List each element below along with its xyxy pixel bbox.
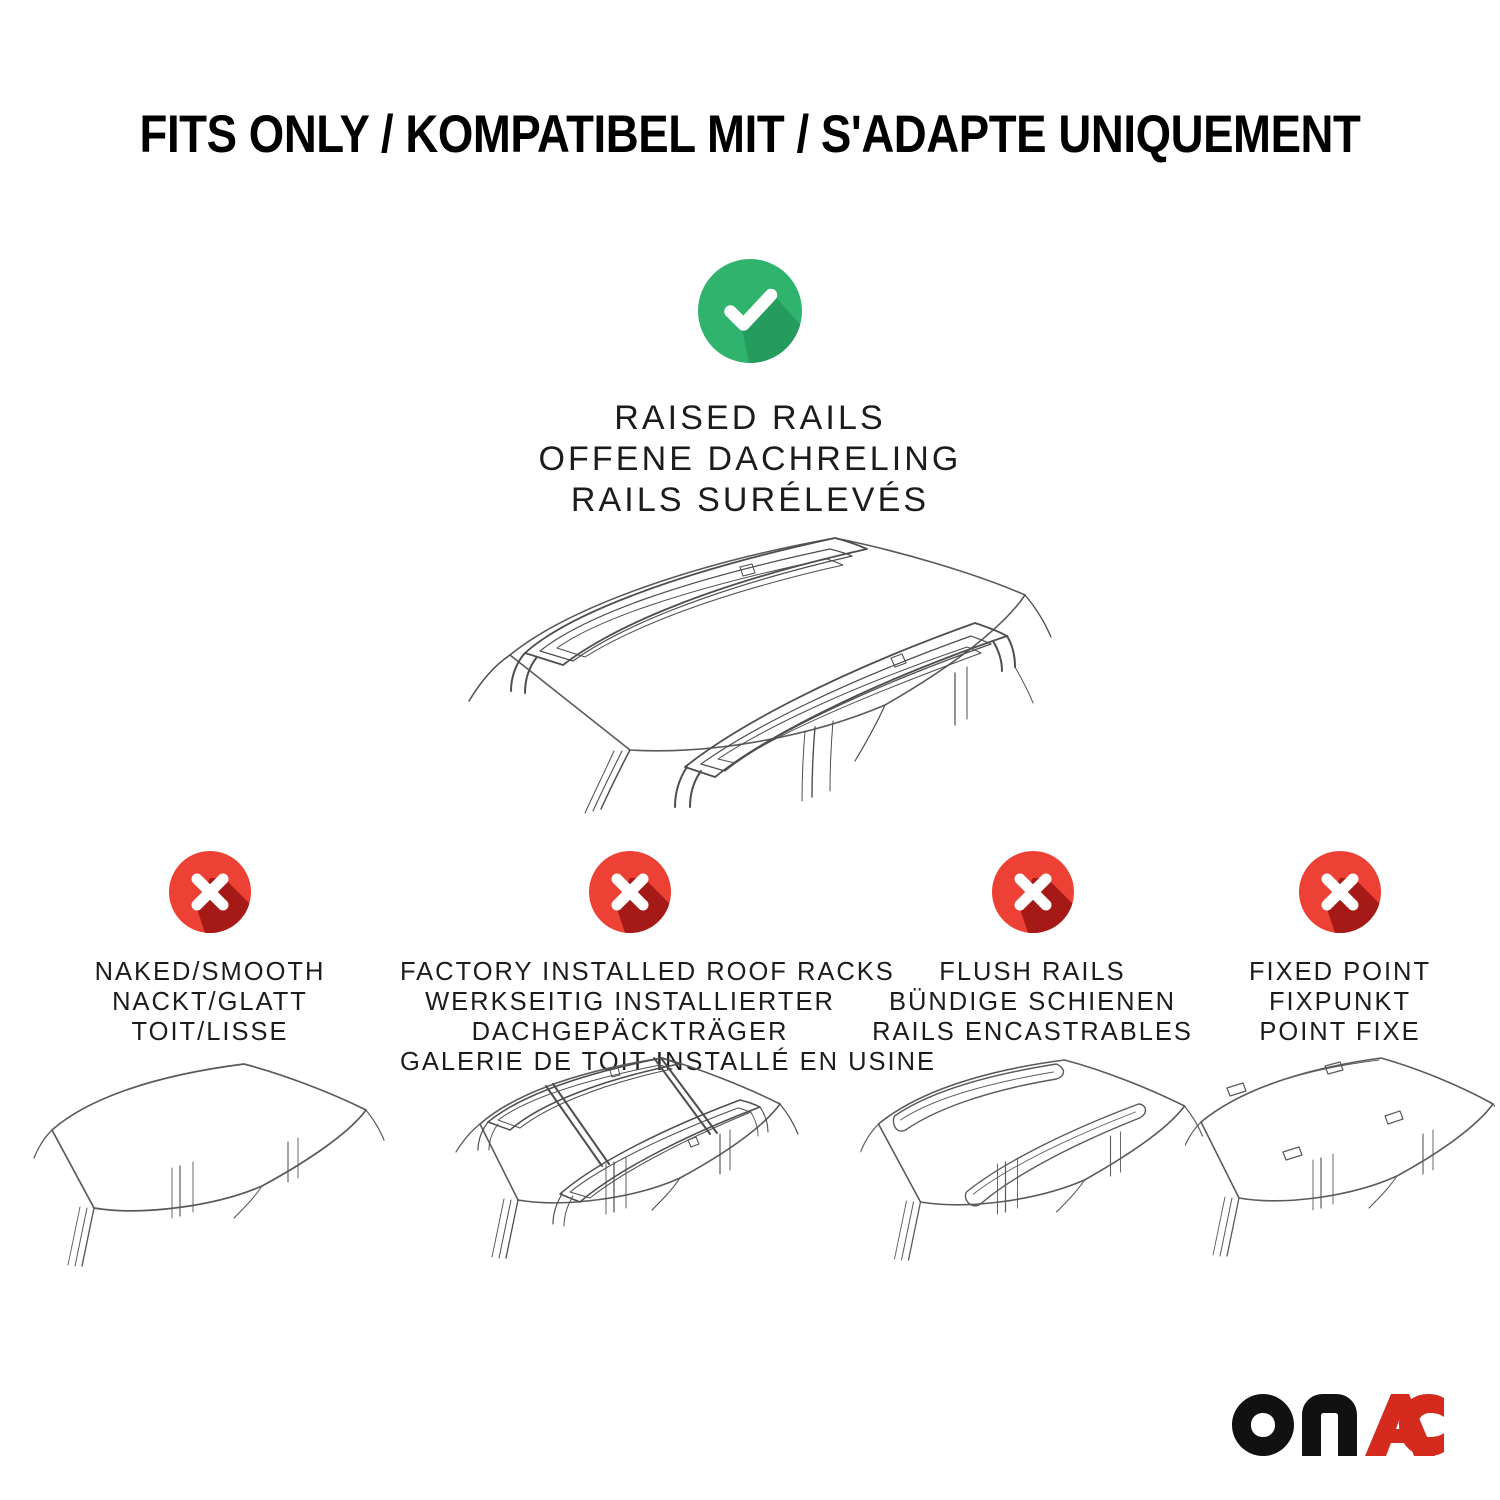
label-fr: RAILS ENCASTRABLES <box>860 1017 1205 1047</box>
incompatible-labels: FLUSH RAILS BÜNDIGE SCHIENEN RAILS ENCAS… <box>860 957 1205 1047</box>
label-en: NAKED/SMOOTH <box>10 957 410 987</box>
roof-illustration-flush-rails <box>860 1044 1205 1274</box>
incompatible-item-factory-roof-racks: FACTORY INSTALLED ROOF RACKS WERKSEITIG … <box>400 848 860 1077</box>
incompatible-labels: NAKED/SMOOTH NACKT/GLATT TOIT/LISSE <box>10 957 410 1047</box>
compatible-label-de: OFFENE DACHRELING <box>0 439 1500 480</box>
roof-illustration-fixed-points <box>1185 1044 1495 1269</box>
label-de: FIXPUNKT <box>1195 987 1485 1017</box>
cross-circle-icon <box>1195 848 1485 941</box>
label-de: NACKT/GLATT <box>10 987 410 1017</box>
label-fr: TOIT/LISSE <box>10 1017 410 1047</box>
incompatible-item-fixed-point: FIXED POINT FIXPUNKT POINT FIXE <box>1195 848 1485 1047</box>
compatible-label-en: RAISED RAILS <box>0 398 1500 439</box>
cross-circle-icon <box>860 848 1205 941</box>
cross-circle-icon <box>10 848 410 941</box>
label-en: FACTORY INSTALLED ROOF RACKS <box>400 957 860 987</box>
compatible-section: RAISED RAILS OFFENE DACHRELING RAILS SUR… <box>0 255 1500 521</box>
roof-illustration-raised-rails <box>415 505 1095 835</box>
compatible-labels: RAISED RAILS OFFENE DACHRELING RAILS SUR… <box>0 398 1500 521</box>
cross-circle-icon <box>400 848 860 941</box>
page-title: FITS ONLY / KOMPATIBEL MIT / S'ADAPTE UN… <box>105 104 1395 165</box>
omac-logo <box>1232 1394 1452 1456</box>
label-en: FIXED POINT <box>1195 957 1485 987</box>
label-de: BÜNDIGE SCHIENEN <box>860 987 1205 1017</box>
incompatible-sections: NAKED/SMOOTH NACKT/GLATT TOIT/LISSE <box>0 848 1500 1448</box>
check-circle-icon <box>0 255 1500 372</box>
incompatible-item-naked-smooth: NAKED/SMOOTH NACKT/GLATT TOIT/LISSE <box>10 848 410 1047</box>
label-fr: POINT FIXE <box>1195 1017 1485 1047</box>
label-de-1: WERKSEITIG INSTALLIERTER <box>400 987 860 1017</box>
incompatible-item-flush-rails: FLUSH RAILS BÜNDIGE SCHIENEN RAILS ENCAS… <box>860 848 1205 1047</box>
label-en: FLUSH RAILS <box>860 957 1205 987</box>
roof-illustration-factory-roof-racks <box>440 1038 820 1283</box>
incompatible-labels: FIXED POINT FIXPUNKT POINT FIXE <box>1195 957 1485 1047</box>
roof-illustration-naked-smooth <box>30 1048 390 1283</box>
